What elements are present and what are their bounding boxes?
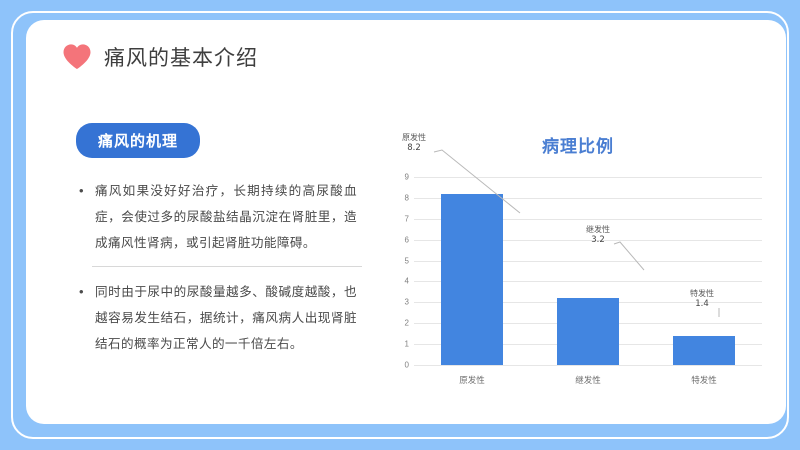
slide-header: 痛风的基本介绍 [62,42,258,72]
chart-callout: 特发性1.4 [690,288,714,310]
bullet-text: 痛风如果没好好治疗，长期持续的高尿酸血症，会使过多的尿酸盐结晶沉淀在肾脏里，造成… [95,178,357,256]
chart-callout-value: 1.4 [690,299,714,310]
chart-callout: 原发性8.2 [402,132,426,154]
slide: 痛风的基本介绍 痛风的机理 • 痛风如果没好好治疗，长期持续的高尿酸血症，会使过… [0,0,800,450]
section-pill-label: 痛风的机理 [76,123,200,158]
bullet-marker-icon: • [76,279,95,357]
chart-leader-lines [392,120,772,385]
chart-callout-value: 8.2 [402,143,426,154]
bullet-list: • 痛风如果没好好治疗，长期持续的高尿酸血症，会使过多的尿酸盐结晶沉淀在肾脏里，… [76,178,376,357]
content-card: 痛风的基本介绍 痛风的机理 • 痛风如果没好好治疗，长期持续的高尿酸血症，会使过… [26,20,786,424]
heart-icon [62,43,92,71]
chart-callout-name: 原发性 [402,132,426,143]
chart-callout: 继发性3.2 [586,224,610,246]
chart-callout-value: 3.2 [586,235,610,246]
list-item: • 痛风如果没好好治疗，长期持续的高尿酸血症，会使过多的尿酸盐结晶沉淀在肾脏里，… [76,178,376,256]
chart-callout-name: 特发性 [690,288,714,299]
list-item: • 同时由于尿中的尿酸量越多、酸碱度越酸，也越容易发生结石，据统计，痛风病人出现… [76,279,376,357]
page-title: 痛风的基本介绍 [104,42,258,72]
chart-callout-name: 继发性 [586,224,610,235]
bullet-text: 同时由于尿中的尿酸量越多、酸碱度越酸，也越容易发生结石，据统计，痛风病人出现肾脏… [95,279,357,357]
paragraph-divider [92,266,362,267]
bullet-marker-icon: • [76,178,95,256]
bar-chart: 病理比例 9876543210 原发性继发性特发性 原发性8.2继发性3.2特发… [392,120,772,385]
left-column: 痛风的机理 • 痛风如果没好好治疗，长期持续的高尿酸血症，会使过多的尿酸盐结晶沉… [76,123,376,361]
